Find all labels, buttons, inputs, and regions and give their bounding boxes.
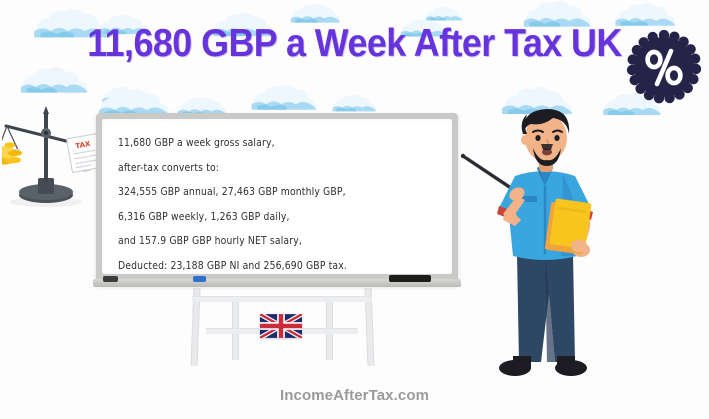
page-title: 11,680 GBP a Week After Tax UK (28, 22, 680, 66)
whiteboard-frame: 11,680 GBP a week gross salary, after-ta… (96, 113, 458, 285)
eraser-black-icon (389, 275, 431, 282)
gold-coins (2, 142, 22, 164)
marker-blue-icon (193, 276, 206, 282)
board-line-gross: 11,680 GBP a week gross salary, (118, 131, 446, 156)
board-line-converts: after-tax converts to: (118, 156, 446, 181)
page-root: 11,680 GBP a Week After Tax UK (0, 0, 709, 419)
board-line-weekly-daily: 6,316 GBP weekly, 1,263 GBP daily, (118, 205, 446, 230)
board-line-deducted: Deducted: 23,188 GBP NI and 256,690 GBP … (118, 254, 446, 274)
board-line-hourly: and 157.9 GBP GBP hourly NET salary, (118, 229, 446, 254)
pointer-stick-icon (461, 154, 517, 192)
whiteboard-face: 11,680 GBP a week gross salary, after-ta… (102, 119, 452, 274)
whiteboard-text: 11,680 GBP a week gross salary, after-ta… (118, 131, 446, 274)
eraser-dark-icon (103, 276, 118, 282)
percent-badge-icon (627, 30, 701, 104)
whiteboard: 11,680 GBP a week gross salary, after-ta… (96, 113, 458, 293)
balance-scales-icon: TAX (2, 104, 108, 214)
marker-tray (93, 279, 461, 287)
union-jack-flag (260, 314, 302, 338)
site-footer-text: IncomeAfterTax.com (0, 387, 709, 404)
teacher-character (455, 104, 645, 392)
whiteboard-stand (186, 288, 378, 368)
board-line-annual-monthly: 324,555 GBP annual, 27,463 GBP monthly G… (118, 180, 446, 205)
